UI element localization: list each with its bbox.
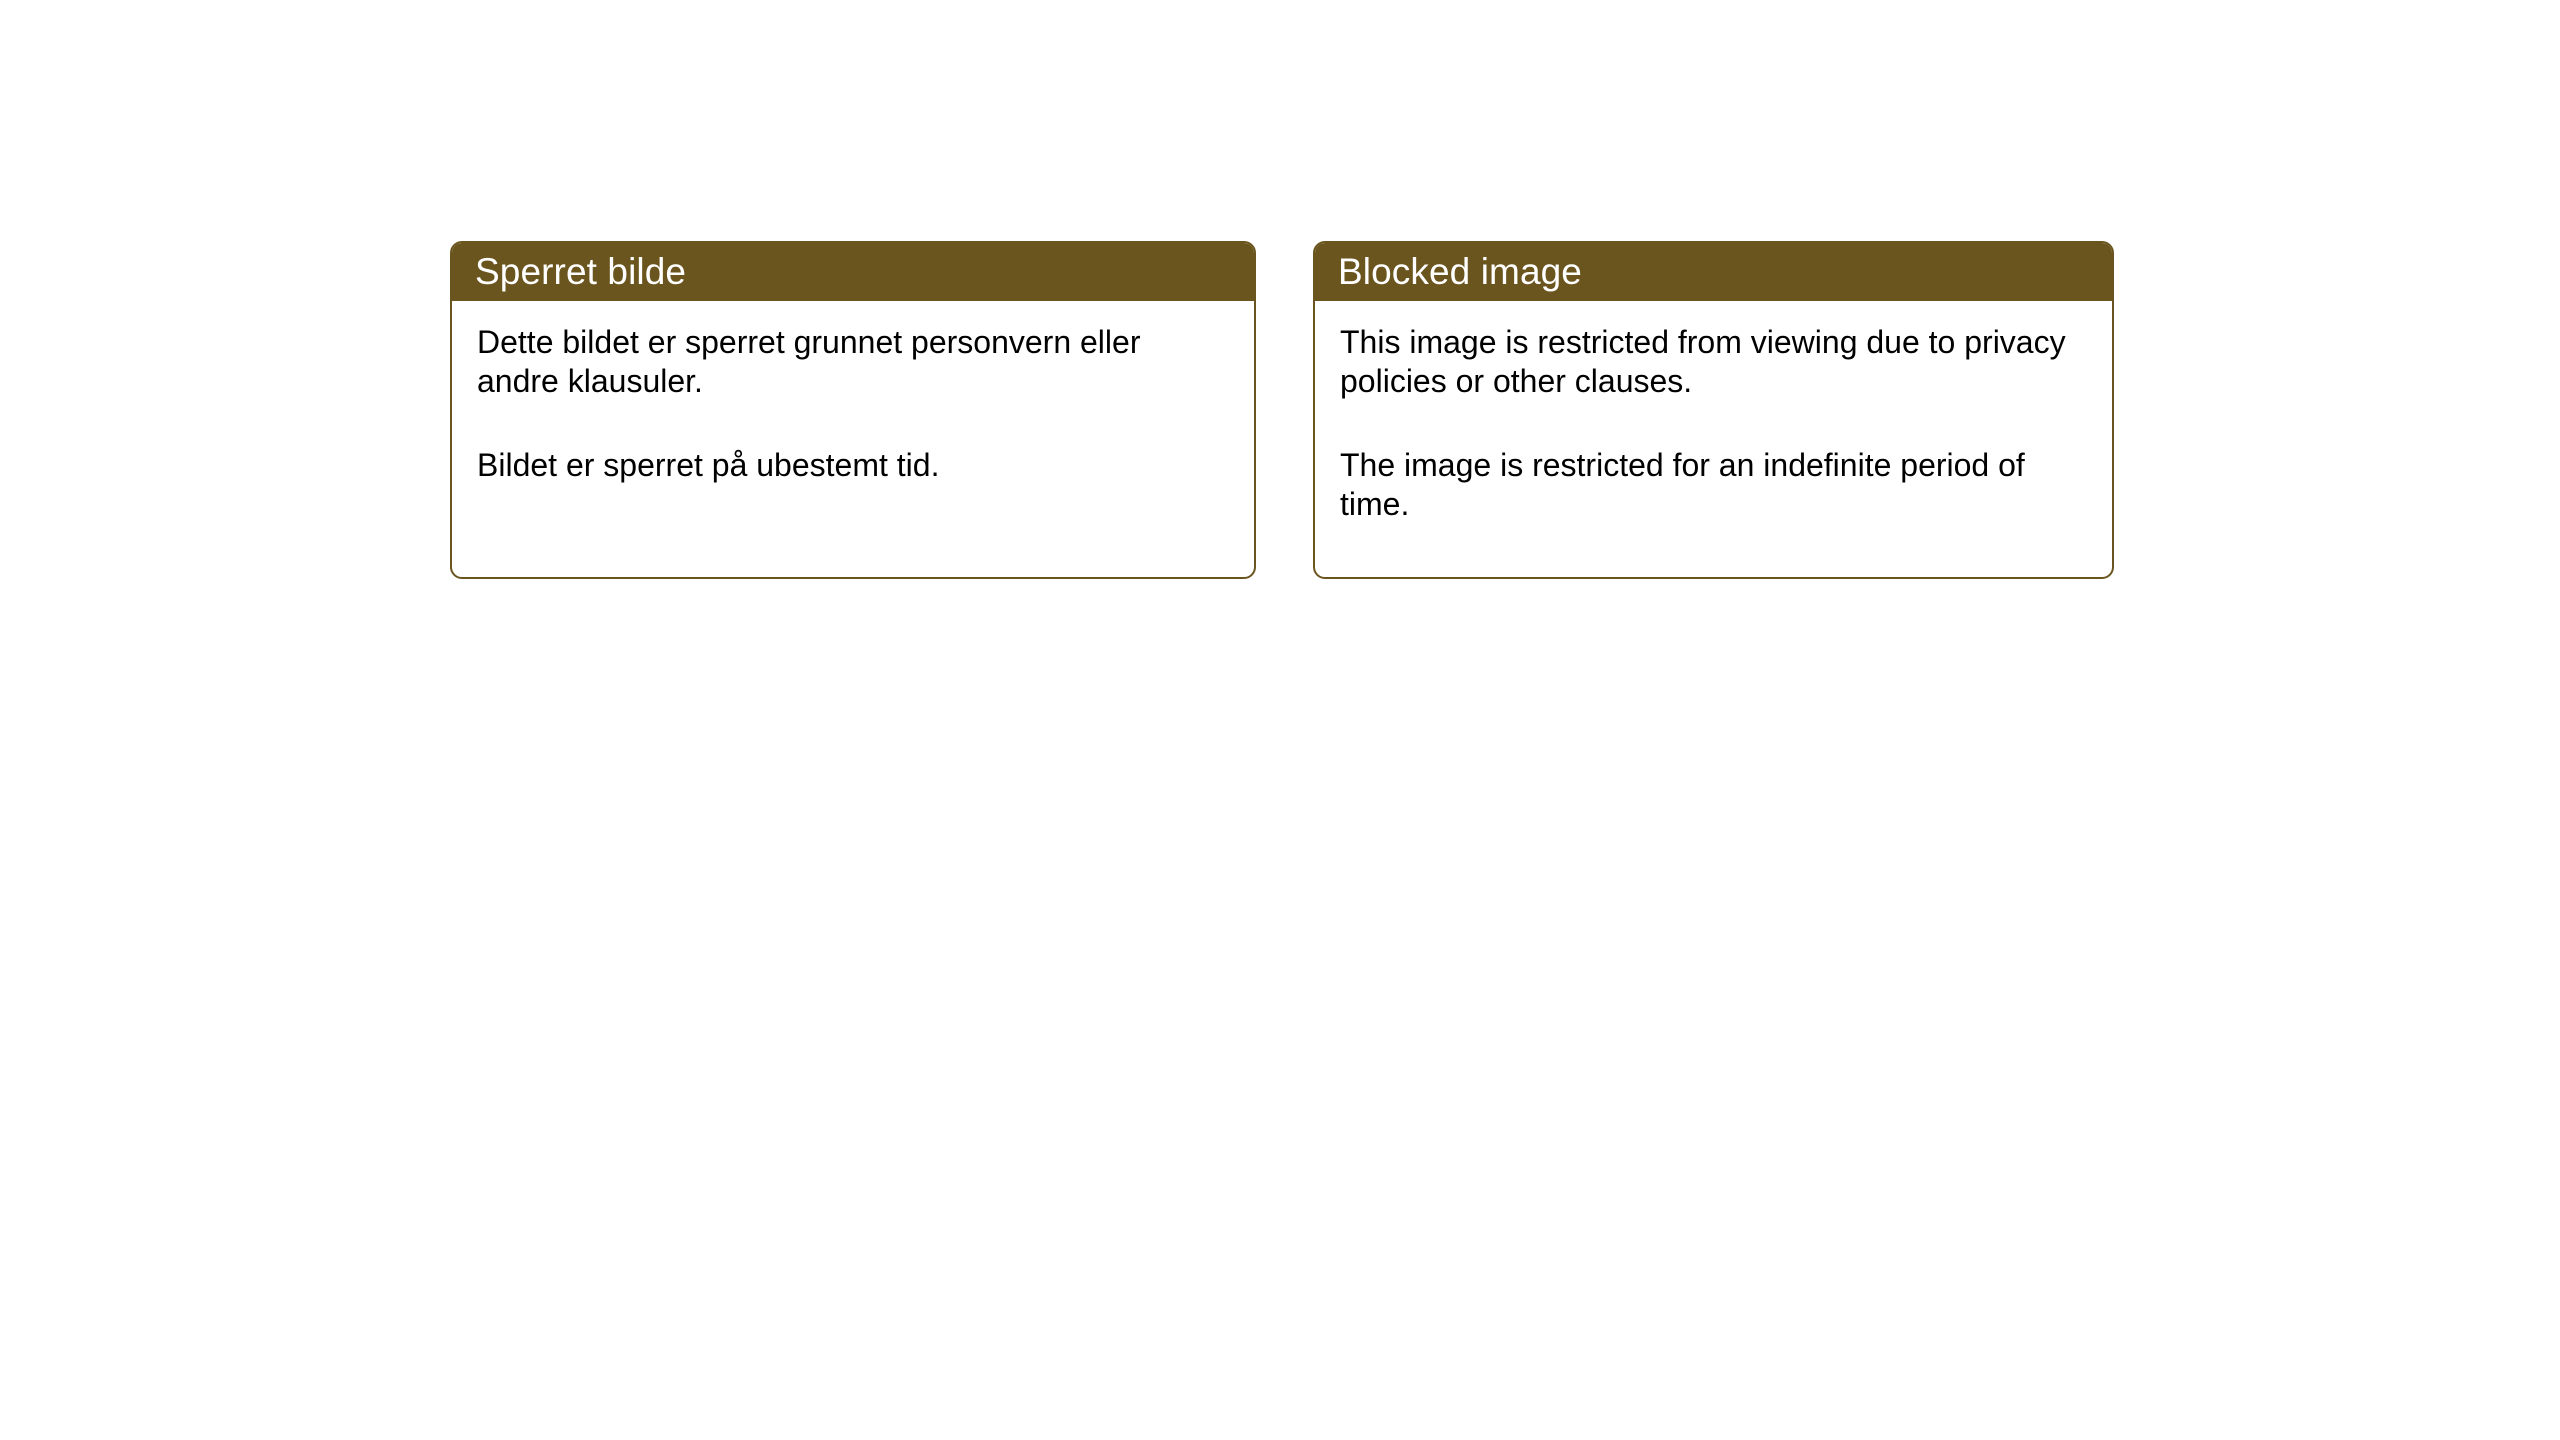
card-paragraph-duration-en: The image is restricted for an indefinit… bbox=[1340, 446, 2086, 525]
blocked-image-notice-card-en: Blocked image This image is restricted f… bbox=[1313, 241, 2114, 579]
blocked-image-notice-card-no: Sperret bilde Dette bildet er sperret gr… bbox=[450, 241, 1256, 579]
card-title-no: Sperret bilde bbox=[475, 253, 686, 290]
card-body-en: This image is restricted from viewing du… bbox=[1315, 301, 2112, 524]
card-paragraph-privacy-no: Dette bildet er sperret grunnet personve… bbox=[477, 323, 1228, 402]
card-paragraph-duration-no: Bildet er sperret på ubestemt tid. bbox=[477, 446, 1228, 485]
card-title-en: Blocked image bbox=[1338, 253, 1582, 290]
card-paragraph-privacy-en: This image is restricted from viewing du… bbox=[1340, 323, 2086, 402]
card-header-no: Sperret bilde bbox=[450, 241, 1256, 301]
card-header-en: Blocked image bbox=[1313, 241, 2114, 301]
page-canvas: Sperret bilde Dette bildet er sperret gr… bbox=[0, 0, 2560, 1440]
card-body-no: Dette bildet er sperret grunnet personve… bbox=[452, 301, 1254, 485]
